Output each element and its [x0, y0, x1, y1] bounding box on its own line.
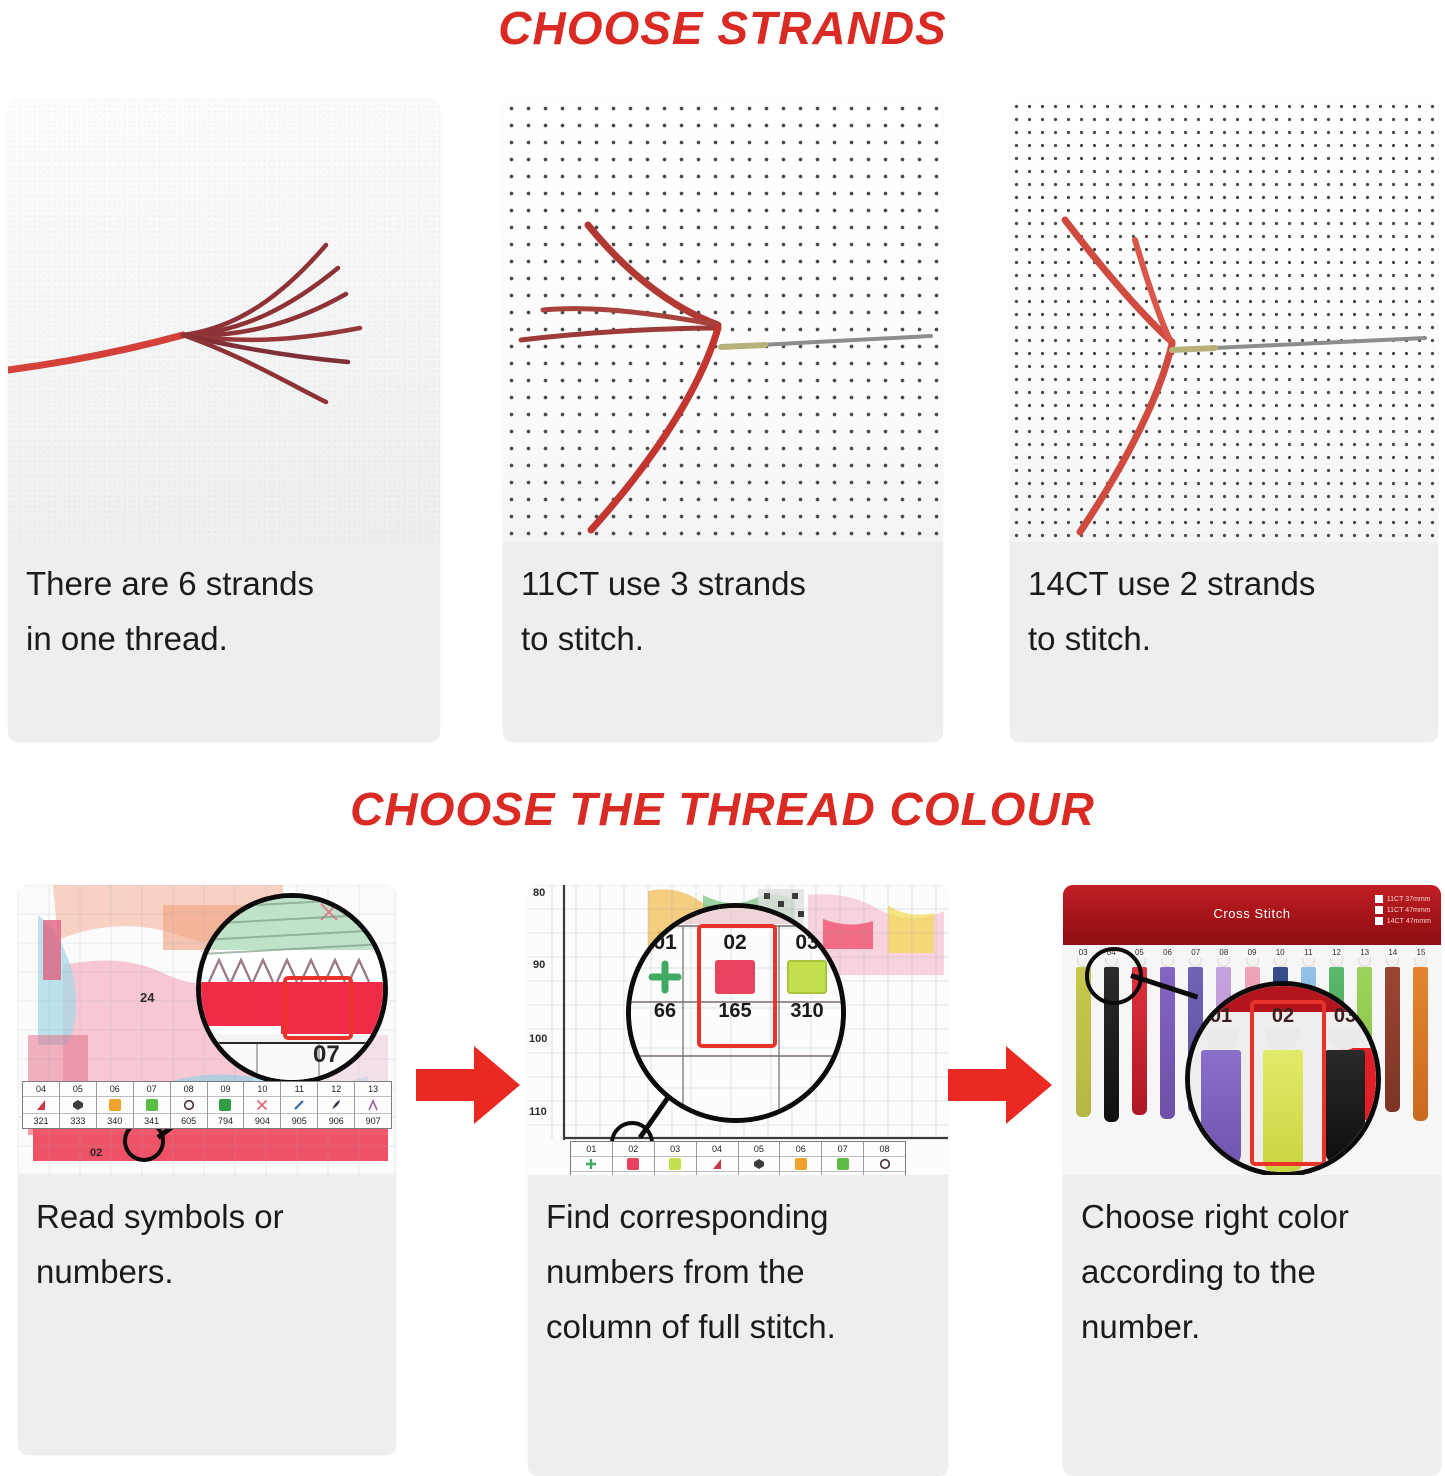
legend-code: 333 [739, 1172, 780, 1175]
row-label-80: 80 [533, 887, 545, 899]
legend-symbol-triangle-icon [23, 1096, 59, 1114]
legend-number: 06 [97, 1082, 133, 1096]
magnified-cell-number: 07 [313, 1041, 340, 1069]
legend-column: 07 341 [134, 1082, 171, 1128]
skein-number: 12 [1332, 947, 1341, 958]
thread-card-options: 11CT 37mmm 11CT 47mmm 14CT 47mmm [1375, 895, 1431, 928]
step-caption-six-strands: There are 6 strands in one thread. [8, 542, 440, 676]
magnifier-highlight-box [697, 924, 777, 1048]
thread-card-magnifier: 01 02 03 [1185, 981, 1381, 1175]
thread-card-photo: Cross Stitch 11CT 37mmm 11CT 47mmm 14CT … [1063, 885, 1441, 1175]
skein-number: 05 [1135, 947, 1144, 958]
magnifier-highlight-box [283, 976, 353, 1040]
skein-number: 10 [1276, 947, 1285, 958]
magnified-skein: 03 [1325, 1004, 1365, 1174]
legend-column: 09 794 [208, 1082, 245, 1128]
legend-number: 13 [355, 1082, 391, 1096]
legend-column: 04 321 [697, 1142, 739, 1175]
magnified-code: 66 [654, 998, 676, 1024]
magnified-skein-thread [1325, 1050, 1365, 1165]
chart-column-photo: 80 90 100 110 [528, 885, 948, 1175]
pattern-chart-magnifier: 07 [196, 893, 388, 1085]
six-strands-photo [8, 100, 440, 542]
chart-column-magnifier: 01 66 02 165 03 [626, 903, 846, 1123]
legend-column: 06 340 [97, 1082, 134, 1128]
legend-symbol-square-icon [134, 1096, 170, 1114]
step-card-14ct: 14CT use 2 strands to stitch. [1010, 100, 1438, 742]
step-card-choose-color: Cross Stitch 11CT 37mmm 11CT 47mmm 14CT … [1063, 885, 1441, 1476]
skein-notch [1330, 958, 1343, 967]
skein-number: 08 [1219, 947, 1228, 958]
legend-number: 01 [571, 1142, 612, 1156]
legend-code: 310 [655, 1172, 696, 1175]
legend-code: 341 [134, 1114, 170, 1128]
checkbox-icon[interactable] [1375, 906, 1383, 914]
legend-symbol-square-icon [97, 1096, 133, 1114]
legend-column: 02 165 [613, 1142, 655, 1175]
skein-hole [1204, 1028, 1238, 1050]
thread-card-header: Cross Stitch 11CT 37mmm 11CT 47mmm 14CT … [1063, 885, 1441, 945]
magnified-skein-number: 03 [1334, 1004, 1356, 1028]
legend-code: 341 [822, 1172, 863, 1175]
legend-number: 10 [244, 1082, 280, 1096]
magnified-number: 03 [795, 930, 818, 956]
legend-code: 905 [281, 1114, 317, 1128]
legend-number: 07 [822, 1142, 863, 1156]
magnified-symbol-cross-icon [647, 956, 683, 998]
skein-number: 09 [1248, 947, 1257, 958]
legend-code: 907 [355, 1114, 391, 1128]
skein-number: 15 [1417, 947, 1426, 958]
legend-symbol-slash-icon [281, 1096, 317, 1114]
legend-symbol-square-icon [780, 1156, 821, 1172]
legend-column: 05 333 [739, 1142, 781, 1175]
legend-symbol-square-icon [655, 1156, 696, 1172]
skein-notch [1161, 958, 1174, 967]
legend-number: 06 [780, 1142, 821, 1156]
legend-symbol-hexagon-icon [739, 1156, 780, 1172]
legend-column: 03 310 [655, 1142, 697, 1175]
chart-legend-table: 01 150 02 165 03 310 04 [570, 1141, 906, 1175]
legend-symbol-caret-icon [355, 1096, 391, 1114]
thread-card-option: 11CT 37mmm [1375, 895, 1431, 903]
legend-code: 340 [97, 1114, 133, 1128]
legend-number: 07 [134, 1082, 170, 1096]
legend-column: 04 321 [23, 1082, 60, 1128]
checkbox-icon[interactable] [1375, 917, 1383, 925]
legend-code: 321 [23, 1114, 59, 1128]
thread-skein[interactable]: 15 [1407, 947, 1435, 1173]
legend-number: 11 [281, 1082, 317, 1096]
skein-hole [1328, 1028, 1362, 1050]
option-label: 11CT 47mmm [1387, 907, 1431, 914]
skein-number: 07 [1191, 947, 1200, 958]
skein-number: 11 [1304, 947, 1312, 958]
pattern-chart-label-24: 24 [140, 990, 154, 1005]
step-card-11ct: 11CT use 3 strands to stitch. [503, 100, 943, 742]
legend-symbol-cross-icon [244, 1096, 280, 1114]
legend-code: 605 [864, 1172, 905, 1175]
skein-notch [1274, 958, 1287, 967]
legend-symbol-circle-icon [171, 1096, 207, 1114]
legend-symbol-triangle-icon [697, 1156, 738, 1172]
legend-symbol-hexagon-icon [60, 1096, 96, 1114]
legend-number: 12 [318, 1082, 354, 1096]
legend-symbol-circle-icon [864, 1156, 905, 1172]
skein-number: 06 [1163, 947, 1172, 958]
legend-code: 904 [244, 1114, 280, 1128]
skein-thread [1413, 967, 1428, 1121]
checkbox-icon[interactable] [1375, 895, 1383, 903]
legend-column: 11 905 [281, 1082, 318, 1128]
legend-code: 340 [780, 1172, 821, 1175]
step-caption-choose-color: Choose right color according to the numb… [1063, 1175, 1441, 1364]
legend-number: 04 [23, 1082, 59, 1096]
legend-code: 321 [697, 1172, 738, 1175]
legend-column: 01 150 [571, 1142, 613, 1175]
legend-symbol-square-icon [822, 1156, 863, 1172]
skein-notch [1302, 958, 1315, 967]
pattern-chart-photo: 24 02 [18, 885, 396, 1175]
magnified-cell: 03 310 [787, 930, 827, 1024]
legend-column: 12 906 [318, 1082, 355, 1128]
six-strands-illustration [8, 100, 440, 542]
legend-code: 165 [613, 1172, 654, 1175]
pattern-chart-label-02: 02 [90, 1147, 102, 1159]
row-label-100: 100 [529, 1033, 547, 1045]
step-caption-find-numbers: Find corresponding numbers from the colu… [528, 1175, 948, 1364]
magnified-cell: 01 66 [647, 930, 683, 1024]
legend-symbol-cross-icon [571, 1156, 612, 1172]
legend-code: 906 [318, 1114, 354, 1128]
legend-column: 13 907 [355, 1082, 391, 1128]
skein-number: 03 [1079, 947, 1088, 958]
legend-number: 08 [171, 1082, 207, 1096]
aida14-needle-illustration [1010, 100, 1438, 542]
arrow-right-icon-1 [412, 1042, 524, 1133]
skein-notch [1217, 958, 1230, 967]
legend-number: 04 [697, 1142, 738, 1156]
legend-column: 08 605 [171, 1082, 208, 1128]
option-label: 14CT 47mmm [1387, 918, 1431, 925]
step-caption-read-symbols: Read symbols or numbers. [18, 1175, 396, 1309]
step-card-six-strands: There are 6 strands in one thread. [8, 100, 440, 742]
option-label: 11CT 37mmm [1387, 896, 1431, 903]
legend-column: 10 904 [244, 1082, 281, 1128]
section-title-choose-thread-colour: CHOOSE THE THREAD COLOUR [0, 783, 1445, 835]
legend-code: 605 [171, 1114, 207, 1128]
magnified-skein-number: 01 [1210, 1004, 1232, 1028]
legend-column: 05 333 [60, 1082, 97, 1128]
pattern-legend-table: 04 321 05 333 06 340 [22, 1081, 392, 1129]
step-card-find-numbers: 80 90 100 110 [528, 885, 948, 1476]
row-label-90: 90 [533, 959, 545, 971]
skein-notch [1386, 958, 1399, 967]
step-card-read-symbols: 24 02 [18, 885, 396, 1455]
row-label-110: 110 [529, 1106, 547, 1118]
legend-code: 794 [208, 1114, 244, 1128]
thread-skein[interactable]: 14 [1379, 947, 1407, 1173]
section-title-choose-strands: CHOOSE STRANDS [0, 2, 1445, 54]
magnified-symbol-square-icon [787, 956, 827, 998]
legend-code: 150 [571, 1172, 612, 1175]
legend-number: 05 [739, 1142, 780, 1156]
arrow-right-icon-2 [944, 1042, 1056, 1133]
magnified-skein: 01 [1201, 1004, 1241, 1174]
legend-symbol-square-icon [613, 1156, 654, 1172]
magnified-code: 310 [790, 998, 823, 1024]
legend-number: 03 [655, 1142, 696, 1156]
magnified-skein-thread [1201, 1050, 1241, 1168]
step-caption-11ct: 11CT use 3 strands to stitch. [503, 542, 943, 676]
11ct-aida-needle-photo [503, 100, 943, 542]
skein-notch [1414, 958, 1427, 967]
magnified-number: 01 [653, 930, 676, 956]
legend-number: 09 [208, 1082, 244, 1096]
skein-number: 13 [1360, 947, 1369, 958]
aida-needle-illustration [503, 100, 943, 542]
14ct-aida-needle-photo [1010, 100, 1438, 542]
step-caption-14ct: 14CT use 2 strands to stitch. [1010, 542, 1438, 676]
legend-number: 08 [864, 1142, 905, 1156]
skein-notch [1358, 958, 1371, 967]
skein-number: 14 [1388, 947, 1397, 958]
skein-notch [1246, 958, 1259, 967]
magnifier-highlight-box [1250, 1000, 1326, 1166]
skein-notch [1189, 958, 1202, 967]
legend-column: 08 605 [864, 1142, 905, 1175]
thread-card-option: 11CT 47mmm [1375, 906, 1431, 914]
skein-thread [1385, 967, 1400, 1112]
infographic-page: CHOOSE STRANDS There are 6 strands in on… [0, 0, 1445, 1476]
legend-number: 05 [60, 1082, 96, 1096]
legend-column: 06 340 [780, 1142, 822, 1175]
legend-number: 02 [613, 1142, 654, 1156]
thread-card-option: 14CT 47mmm [1375, 917, 1431, 925]
legend-code: 333 [60, 1114, 96, 1128]
legend-column: 07 341 [822, 1142, 864, 1175]
legend-symbol-square-icon [208, 1096, 244, 1114]
legend-symbol-leaf-icon [318, 1096, 354, 1114]
